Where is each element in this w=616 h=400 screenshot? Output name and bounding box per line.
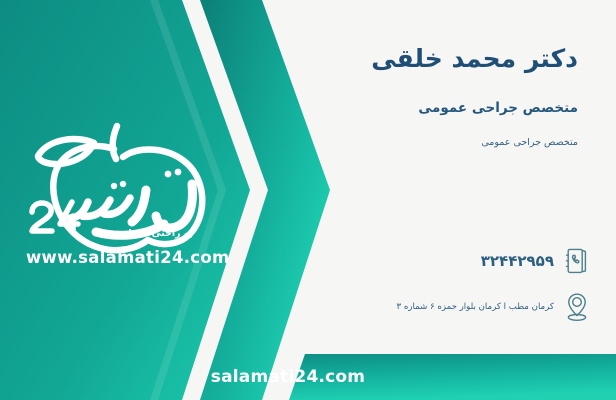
- footer-website[interactable]: salamati24.com: [0, 354, 616, 400]
- doctor-specialty-secondary: متخصص جراحی عمومی: [481, 137, 578, 148]
- phone-number: ۳۲۴۴۲۹۵۹: [342, 252, 554, 270]
- brand-tagline: به راحتی یک لبخند: [108, 228, 228, 239]
- location-pin-icon: [562, 289, 592, 325]
- doctor-info-panel: دکتر محمد خلقی متخصص جراحی عمومی متخصص ج…: [330, 0, 616, 400]
- clinic-address: کرمان مطب ا کرمان بلوار حمزه ۶ شماره ۳: [342, 302, 554, 312]
- phonebook-icon: [562, 243, 592, 279]
- contact-row-phone[interactable]: ۳۲۴۴۲۹۵۹: [342, 243, 592, 279]
- doctor-profile-card: به راحتی یک لبخند www.salamati24.com دکت…: [0, 0, 616, 400]
- brand-artwork-panel: [0, 0, 330, 400]
- contact-list: ۳۲۴۴۲۹۵۹ کرمان مطب ا کرمان بلوار حمزه ۶ …: [342, 243, 592, 335]
- doctor-specialty-primary: متخصص جراحی عمومی: [418, 100, 578, 116]
- contact-row-address[interactable]: کرمان مطب ا کرمان بلوار حمزه ۶ شماره ۳: [342, 289, 592, 325]
- brand-website-url: www.salamati24.com: [26, 248, 216, 267]
- doctor-name: دکتر محمد خلقی: [371, 44, 578, 74]
- footer-bar: salamati24.com: [0, 354, 616, 400]
